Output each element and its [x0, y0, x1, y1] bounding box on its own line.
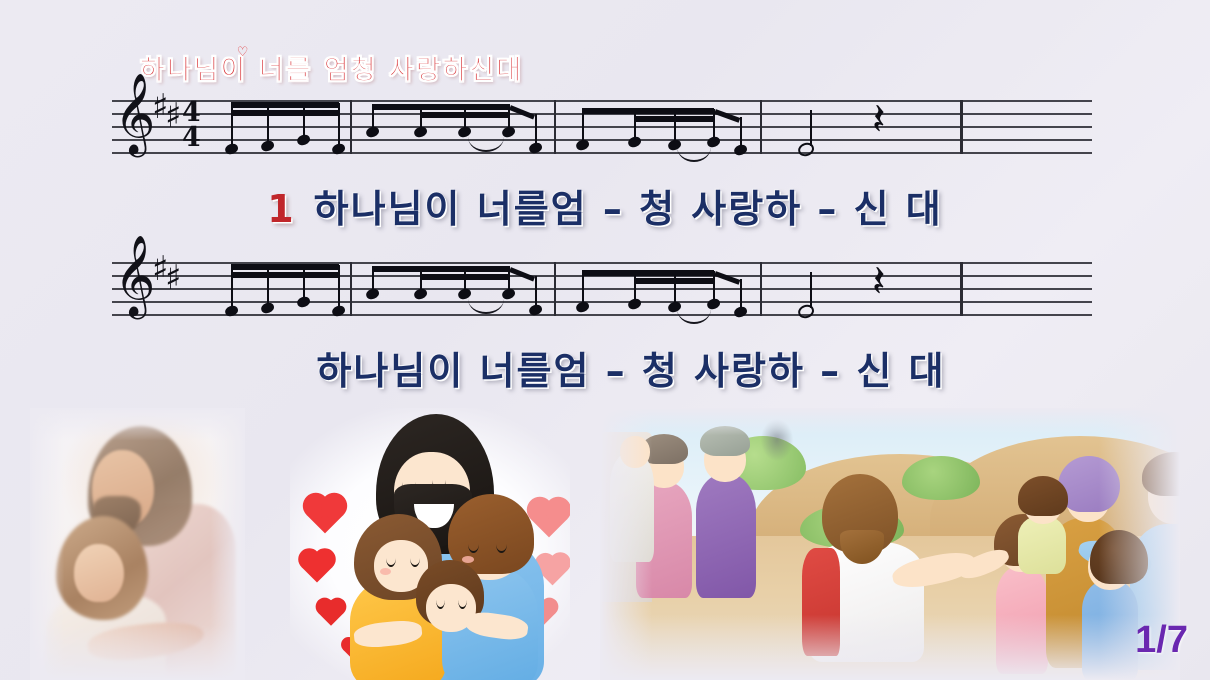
- quarter-rest-icon: 𝄽: [872, 260, 885, 304]
- tie: [468, 137, 504, 152]
- note-stem: [810, 272, 812, 308]
- note-stem: [231, 265, 233, 311]
- child-boy-body: [1082, 580, 1138, 680]
- beam: [372, 266, 510, 272]
- staff-line: [112, 139, 1092, 141]
- song-title-heart-syllable: 이♡: [221, 55, 248, 86]
- beam: [714, 271, 740, 285]
- barline: [760, 262, 762, 316]
- note-head: [733, 143, 748, 156]
- note-head: [260, 301, 275, 314]
- picture-jesus-hug-cartoon: [290, 408, 570, 680]
- final-barline: [960, 262, 963, 316]
- picture-bible-scene-cartoon: [600, 408, 1180, 680]
- jesus-red-sash: [802, 548, 840, 656]
- heart-icon: ♡: [237, 46, 251, 59]
- scene-bush-3: [902, 456, 980, 500]
- disciple-3-robe: [610, 452, 654, 562]
- beam: [231, 272, 339, 278]
- staff-line: [112, 314, 1092, 316]
- verse-number: 1: [267, 187, 295, 231]
- music-system-2: 𝄞 ♯ ♯: [112, 262, 1092, 314]
- note-head: [296, 133, 311, 146]
- barline: [350, 100, 352, 154]
- child-boy-blush: [462, 556, 474, 563]
- staff-line: [112, 301, 1092, 303]
- disciple-2-robe: [696, 474, 756, 598]
- key-signature-sharp-2: ♯: [165, 261, 181, 295]
- lyric-line-2: 하나님이 너를엄 – 청 사랑하 – 신 대: [0, 340, 1210, 395]
- slide-canvas: 하나님이♡ 너를 엄청 사랑하신대 𝄞 ♯ ♯ 4 4: [0, 0, 1210, 680]
- barline: [554, 100, 556, 154]
- staff-2: 𝄞 ♯ ♯: [112, 262, 1092, 314]
- disciple-2-headwrap: [700, 426, 750, 456]
- song-title: 하나님이♡ 너를 엄청 사랑하신대: [140, 48, 523, 87]
- note-stem: [338, 265, 340, 311]
- beam: [582, 270, 714, 276]
- note-stem: [231, 103, 233, 149]
- staff-line: [112, 126, 1092, 128]
- final-barline: [960, 100, 963, 154]
- beam: [582, 108, 714, 114]
- treble-clef-icon: 𝄞: [114, 240, 155, 310]
- note-stem: [810, 110, 812, 146]
- barline: [350, 262, 352, 316]
- child-girl-blush: [380, 568, 391, 575]
- disciple-3-head: [620, 436, 650, 468]
- lyric-text: 하나님이 너를엄 – 청 사랑하 – 신 대: [316, 349, 945, 393]
- beam: [231, 264, 339, 270]
- child-face: [74, 544, 124, 602]
- page-indicator: 1/7: [1135, 619, 1188, 662]
- note-stem: [338, 103, 340, 149]
- staff-line: [112, 152, 1092, 154]
- tie: [677, 309, 711, 324]
- beam: [231, 110, 339, 116]
- beam: [714, 109, 740, 123]
- note-head: [296, 295, 311, 308]
- child-pink-body: [996, 566, 1048, 674]
- staff-1: 𝄞 ♯ ♯ 4 4: [112, 100, 1092, 152]
- lyric-text: 하나님이 너를엄 – 청 사랑하 – 신 대: [314, 187, 943, 231]
- note-head: [627, 297, 642, 310]
- baby-hair: [1018, 476, 1068, 516]
- baby-body: [1018, 516, 1066, 574]
- song-title-part-b: 너를 엄청 사랑하신대: [247, 55, 523, 86]
- barline: [554, 262, 556, 316]
- staff-line: [112, 288, 1092, 290]
- picture-jesus-child-watercolor: [30, 408, 245, 680]
- quarter-rest-icon: 𝄽: [872, 98, 885, 142]
- note-head: [733, 305, 748, 318]
- note-head: [260, 139, 275, 152]
- key-signature-sharp-2: ♯: [165, 99, 181, 133]
- tie: [468, 299, 504, 314]
- lyric-line-1: 1하나님이 너를엄 – 청 사랑하 – 신 대: [0, 178, 1210, 233]
- treble-clef-icon: 𝄞: [114, 78, 155, 148]
- note-head-half: [796, 141, 815, 158]
- note-head-half: [796, 303, 815, 320]
- time-signature-denominator: 4: [182, 124, 201, 151]
- child-boy-hair: [1090, 530, 1148, 584]
- music-system-1: 𝄞 ♯ ♯ 4 4: [112, 100, 1092, 152]
- note-head: [627, 135, 642, 148]
- scene-smoke: [760, 418, 794, 462]
- tie: [677, 147, 711, 162]
- beam: [231, 102, 339, 108]
- barline: [760, 100, 762, 154]
- beam: [372, 104, 510, 110]
